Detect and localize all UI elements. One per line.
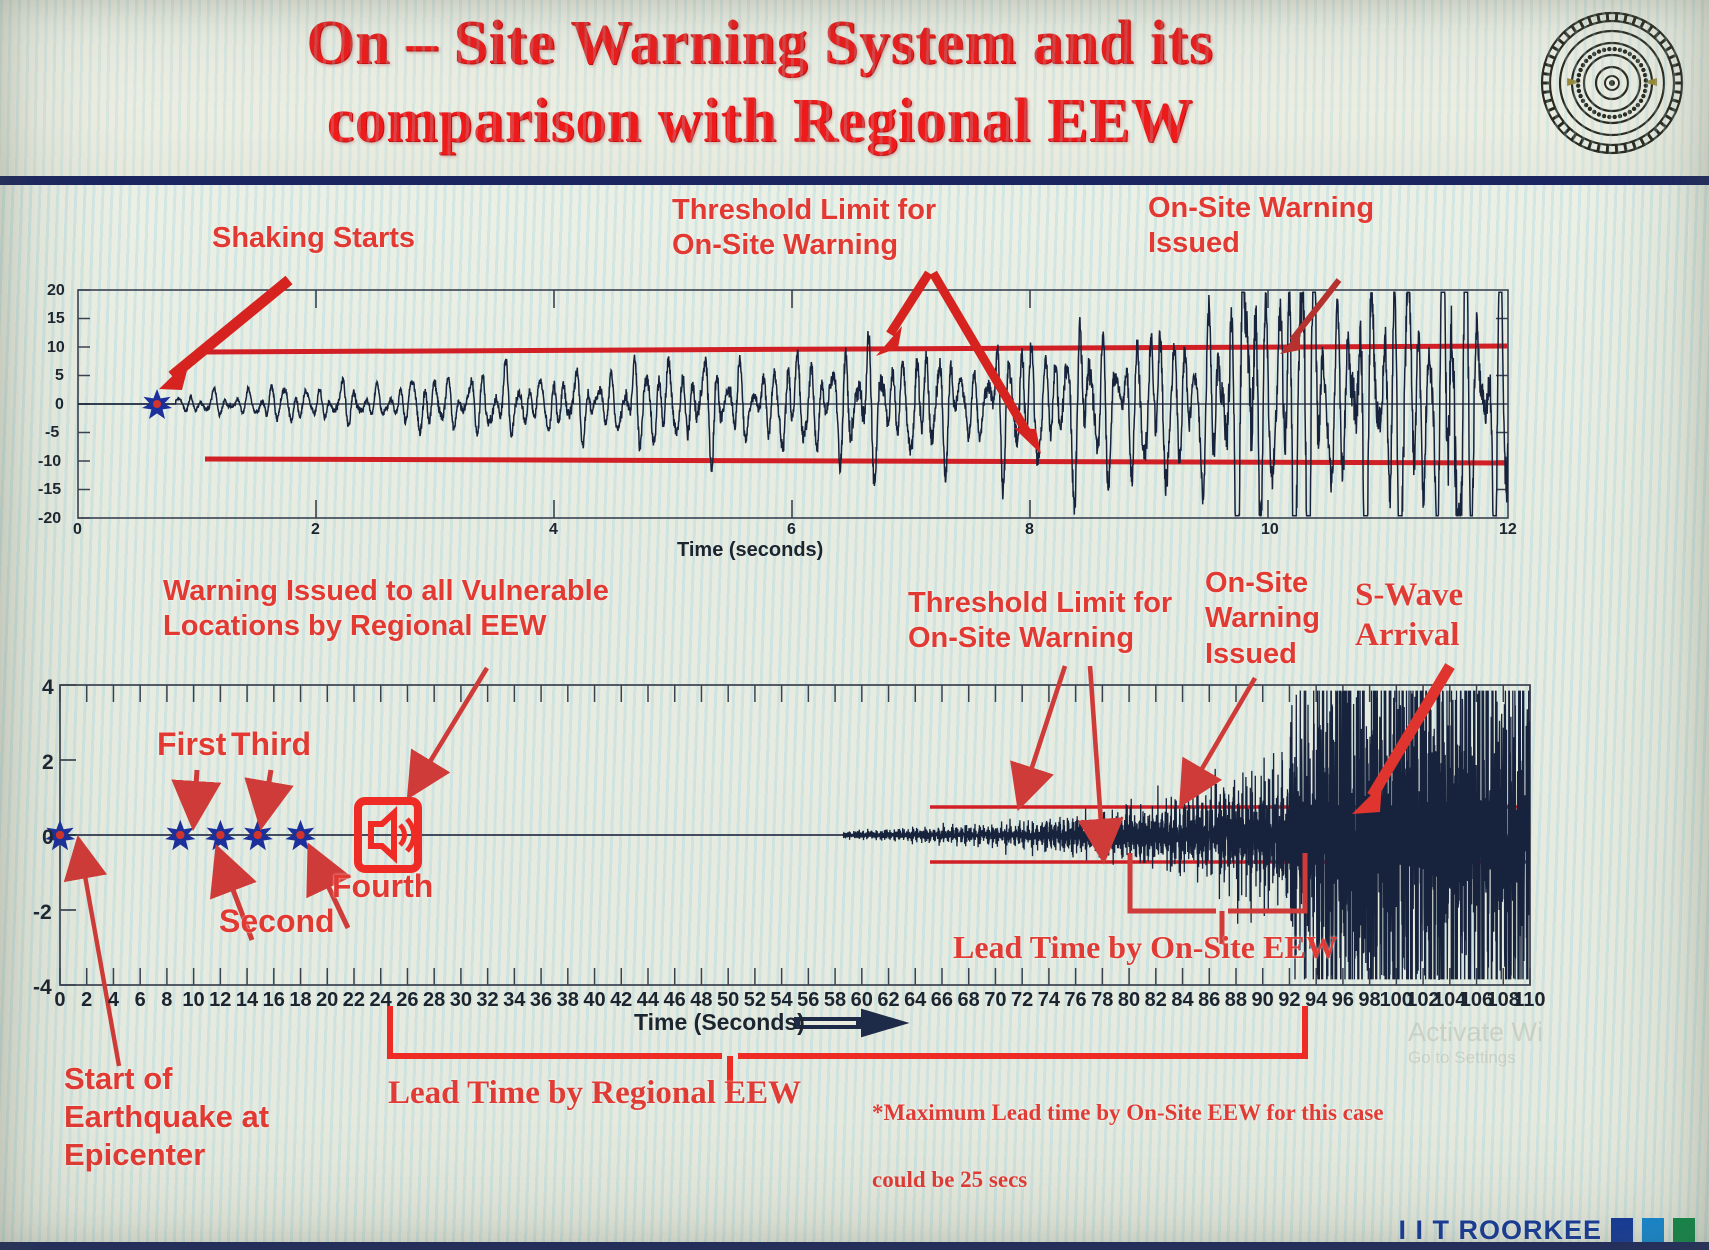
- bottom-xtick-76: 76: [1064, 989, 1086, 1012]
- footnote-line1: *Maximum Lead time by On-Site EEW for th…: [872, 1096, 1384, 1129]
- top-x-axis-title: Time (seconds): [677, 539, 823, 562]
- annotation-fourth: Fourth: [332, 867, 433, 906]
- top-xtick-2: 4: [549, 521, 558, 539]
- annotation-first: First: [157, 725, 226, 764]
- iit-roorkee-emblem: teeth: [1537, 8, 1687, 158]
- bottom-xtick-16: 16: [263, 989, 285, 1012]
- top-accelerogram-chart: 20 15 10 5 0 -5 -10 -15 -20 0 2 4 6 8 10…: [0, 176, 1709, 566]
- bottom-xtick-36: 36: [530, 989, 552, 1012]
- page-title-line2: comparison with Regional EEW: [140, 82, 1380, 160]
- annotation-on-site-warning-issued-bottom: On-Site Warning Issued: [1205, 566, 1320, 672]
- bottom-xtick-12: 12: [209, 989, 231, 1012]
- bottom-xtick-62: 62: [877, 989, 899, 1012]
- annotation-threshold-limit-top: Threshold Limit for On-Site Warning: [672, 193, 936, 264]
- bottom-xtick-18: 18: [289, 989, 311, 1012]
- bottom-xtick-28: 28: [423, 989, 445, 1012]
- annotation-lead-time-regional: Lead Time by Regional EEW: [388, 1074, 801, 1114]
- bottom-xtick-10: 10: [182, 989, 204, 1012]
- bottom-xtick-14: 14: [236, 989, 258, 1012]
- annotation-second: Second: [219, 902, 335, 941]
- bottom-xtick-42: 42: [610, 989, 632, 1012]
- bottom-xtick-30: 30: [450, 989, 472, 1012]
- bottom-xtick-24: 24: [370, 989, 392, 1012]
- threshold-upper-arrow: [890, 273, 929, 334]
- brand-square-1: [1611, 1218, 1633, 1243]
- bottom-xtick-78: 78: [1091, 989, 1113, 1012]
- bottom-xtick-60: 60: [851, 989, 873, 1012]
- bottom-xtick-4: 4: [108, 989, 119, 1012]
- page-title-line1: On – Site Warning System and its: [140, 4, 1380, 82]
- annotation-start-of-earthquake: Start of Earthquake at Epicenter: [64, 1060, 269, 1173]
- bottom-xtick-6: 6: [135, 989, 146, 1012]
- bottom-xtick-96: 96: [1332, 989, 1354, 1012]
- bottom-xtick-70: 70: [984, 989, 1006, 1012]
- bottom-xtick-66: 66: [931, 989, 953, 1012]
- bottom-xtick-82: 82: [1145, 989, 1167, 1012]
- top-ytick-3: 5: [55, 367, 64, 385]
- top-xtick-1: 2: [311, 521, 320, 539]
- brand-square-3: [1673, 1218, 1695, 1243]
- bottom-navy-bar: [0, 1242, 1709, 1250]
- bottom-xtick-2: 2: [81, 989, 92, 1012]
- top-xtick-6: 12: [1499, 521, 1517, 539]
- top-ytick-6: -10: [38, 453, 61, 471]
- top-ytick-2: 10: [47, 339, 65, 357]
- annotation-warning-issued-regional: Warning Issued to all Vulnerable Locatio…: [163, 574, 609, 645]
- bottom-xtick-110: 110: [1513, 989, 1545, 1012]
- bottom-xtick-68: 68: [958, 989, 980, 1012]
- bottom-xtick-86: 86: [1198, 989, 1220, 1012]
- bottom-xtick-40: 40: [583, 989, 605, 1012]
- bottom-ytick-4: -4: [33, 976, 52, 1000]
- bottom-xtick-88: 88: [1225, 989, 1247, 1012]
- top-ytick-0: 20: [47, 282, 65, 300]
- top-xtick-3: 6: [787, 521, 796, 539]
- bottom-ytick-1: 2: [42, 751, 54, 775]
- bottom-x-axis-title: Time (Seconds): [634, 1009, 805, 1036]
- bottom-xtick-26: 26: [396, 989, 418, 1012]
- brand-square-2: [1642, 1218, 1664, 1243]
- bottom-xtick-38: 38: [557, 989, 579, 1012]
- annotation-s-wave-arrival: S-Wave Arrival: [1355, 576, 1463, 655]
- annotation-shaking-starts: Shaking Starts: [212, 221, 415, 256]
- slide-canvas: On – Site Warning System and its compari…: [0, 0, 1709, 1250]
- bottom-xtick-90: 90: [1252, 989, 1274, 1012]
- annotation-threshold-limit-bottom: Threshold Limit for On-Site Warning: [908, 586, 1172, 657]
- bottom-xtick-8: 8: [161, 989, 172, 1012]
- top-ytick-1: 15: [47, 310, 65, 328]
- annotation-on-site-warning-issued-top: On-Site Warning Issued: [1148, 191, 1374, 262]
- bottom-xtick-80: 80: [1118, 989, 1140, 1012]
- threshold-lower-arrow: [933, 273, 1028, 434]
- bottom-ytick-2: 0: [42, 826, 54, 850]
- annotation-third: Third: [231, 725, 311, 764]
- bottom-xtick-22: 22: [343, 989, 365, 1012]
- bottom-xtick-0: 0: [54, 989, 65, 1012]
- time-direction-arrow: [795, 1010, 906, 1036]
- top-xtick-4: 8: [1025, 521, 1034, 539]
- footnote-max-lead-time: *Maximum Lead time by On-Site EEW for th…: [872, 1063, 1384, 1230]
- bottom-ytick-3: -2: [33, 901, 52, 925]
- shaking-starts-arrowhead: [159, 359, 190, 390]
- annotation-lead-time-onsite: Lead Time by On-Site EEW: [953, 928, 1338, 966]
- bottom-xtick-58: 58: [824, 989, 846, 1012]
- bottom-comparison-chart: 4 2 0 -2 -4 0246810121416182022242628303…: [0, 566, 1709, 1250]
- bottom-ytick-0: 4: [42, 676, 54, 700]
- slide-header: On – Site Warning System and its compari…: [0, 0, 1709, 185]
- bottom-xtick-64: 64: [904, 989, 926, 1012]
- bottom-xtick-92: 92: [1278, 989, 1300, 1012]
- top-xtick-5: 10: [1261, 521, 1279, 539]
- top-ytick-7: -15: [38, 481, 61, 499]
- bottom-xtick-98: 98: [1358, 989, 1380, 1012]
- top-ytick-4: 0: [55, 396, 64, 414]
- page-title: On – Site Warning System and its compari…: [140, 4, 1380, 160]
- footnote-line2: could be 25 secs: [872, 1163, 1384, 1196]
- bottom-xtick-32: 32: [476, 989, 498, 1012]
- top-ytick-5: -5: [45, 424, 59, 442]
- bottom-xtick-72: 72: [1011, 989, 1033, 1012]
- bottom-xtick-84: 84: [1171, 989, 1193, 1012]
- shaking-starts-arrow: [172, 280, 289, 376]
- bottom-xtick-94: 94: [1305, 989, 1327, 1012]
- top-ytick-8: -20: [38, 510, 61, 528]
- bottom-xtick-34: 34: [503, 989, 525, 1012]
- top-xtick-0: 0: [73, 521, 82, 539]
- bottom-xtick-74: 74: [1038, 989, 1060, 1012]
- bottom-xtick-20: 20: [316, 989, 338, 1012]
